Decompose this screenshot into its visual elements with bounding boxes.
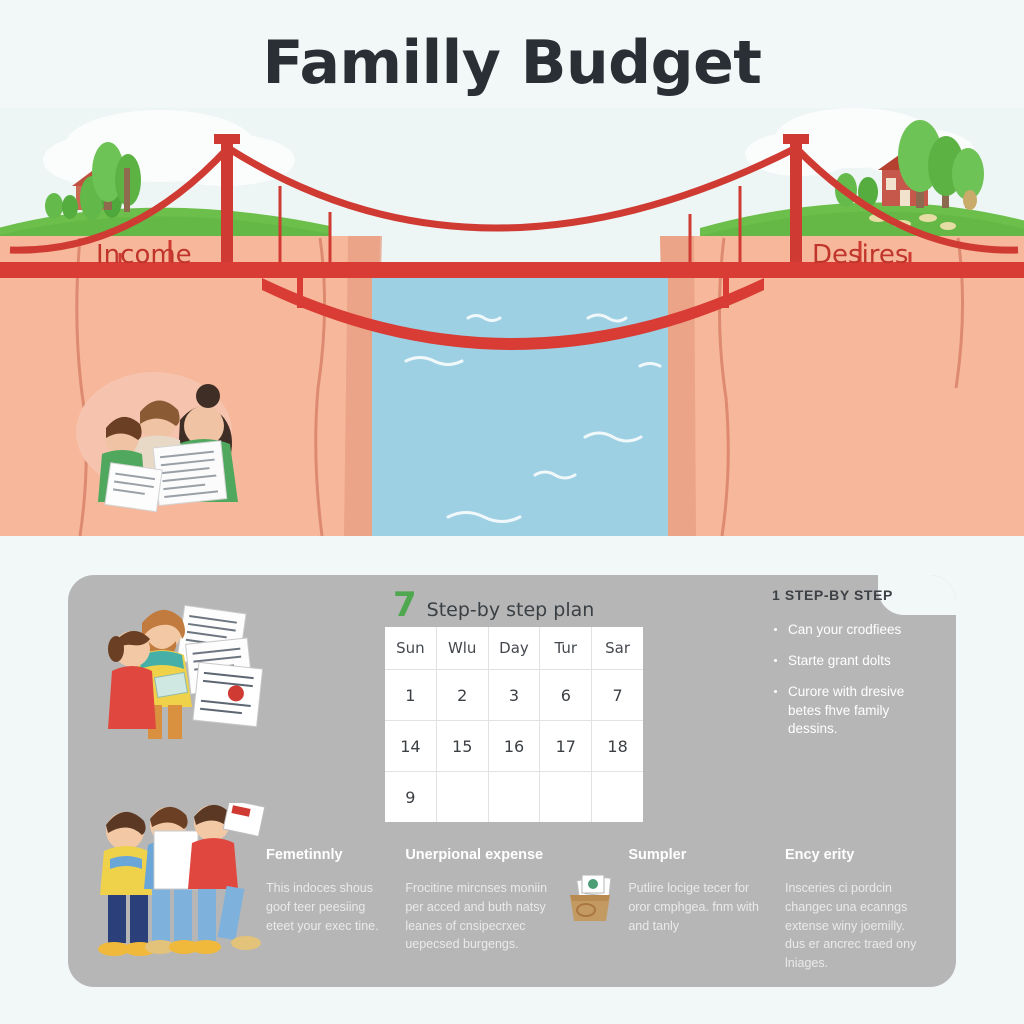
couple-with-papers-icon: [90, 593, 270, 743]
children-with-paper-icon: [80, 803, 275, 973]
feature-column: Ency erity Insceries ci pordcin changec …: [785, 847, 946, 973]
calendar-day-cell[interactable]: 15: [437, 721, 489, 772]
calendar-day-cell[interactable]: 6: [540, 670, 592, 721]
page-title: Familly Budget: [0, 28, 1024, 98]
calendar-day-cell[interactable]: 2: [437, 670, 489, 721]
feature-title: Femetinnly: [266, 847, 387, 863]
plan-heading: 7 Step-by step plan: [393, 588, 594, 622]
infographic-root: Familly Budget: [0, 0, 1024, 1024]
calendar-header-cell: Sar: [592, 627, 643, 670]
income-label: Income: [96, 240, 192, 270]
calendar-header-cell: Tur: [540, 627, 592, 670]
step-by-step-list: Can your crodfiees Starte grant dolts Cu…: [772, 621, 932, 738]
family-reviewing-documents-icon: [76, 372, 238, 512]
calendar-day-cell[interactable]: [437, 772, 489, 822]
calendar-week-row: 14 15 16 17 18: [385, 721, 643, 772]
cliff-right: [660, 236, 1024, 536]
calendar-day-cell[interactable]: [540, 772, 592, 822]
calendar-day-cell[interactable]: 17: [540, 721, 592, 772]
feature-body: Frocitine mircnses moniin per acced and …: [405, 879, 548, 954]
feature-title: Ency erity: [785, 847, 928, 863]
calendar-week-row: 1 2 3 6 7: [385, 670, 643, 721]
step-item: Curore with dresive betes fhve family de…: [772, 683, 932, 738]
canyon-bridge-scene: Income Desires: [0, 108, 1024, 536]
feature-column: Femetinnly This indoces shous goof teer …: [266, 847, 405, 973]
calendar-header-row: Sun Wlu Day Tur Sar: [385, 627, 643, 670]
cash-box-icon: [564, 873, 620, 927]
calendar-header-cell: Wlu: [437, 627, 489, 670]
feature-body: This indoces shous goof teer peesiing et…: [266, 879, 387, 935]
step-by-step-title: 1 STEP-BY STEP: [772, 587, 932, 603]
calendar-week-row: 9: [385, 772, 643, 822]
plan-number: 7: [393, 588, 417, 622]
calendar-day-cell[interactable]: [592, 772, 643, 822]
feature-column: Unerpional expense Frocitine mircnses mo…: [405, 847, 566, 973]
feature-title: Unerpional expense: [405, 847, 548, 863]
calendar-day-cell[interactable]: [489, 772, 541, 822]
calendar-day-cell[interactable]: 9: [385, 772, 437, 822]
feature-body: Insceries ci pordcin changec una ecanngs…: [785, 879, 928, 973]
bottom-panel: 7 Step-by step plan Sun Wlu Day Tur Sar …: [68, 575, 956, 987]
calendar-day-cell[interactable]: 3: [489, 670, 541, 721]
calendar-day-cell[interactable]: 1: [385, 670, 437, 721]
feature-column: Sumpler Putlire locige tecer for oror cm…: [566, 847, 785, 973]
plan-label: Step-by step plan: [427, 599, 595, 621]
feature-body: Putlire locige tecer for oror cmphgea. f…: [628, 879, 767, 935]
river-water-icon: [372, 268, 668, 536]
feature-columns: Femetinnly This indoces shous goof teer …: [266, 847, 946, 973]
calendar-day-cell[interactable]: 16: [489, 721, 541, 772]
step-item: Starte grant dolts: [772, 652, 932, 670]
calendar-day-cell[interactable]: 18: [592, 721, 643, 772]
calendar-header-cell: Day: [489, 627, 541, 670]
step-item: Can your crodfiees: [772, 621, 932, 639]
desires-label: Desires: [812, 240, 908, 270]
calendar-day-cell[interactable]: 7: [592, 670, 643, 721]
scene-svg: Income Desires: [0, 108, 1024, 536]
calendar-day-cell[interactable]: 14: [385, 721, 437, 772]
step-by-step-block: 1 STEP-BY STEP Can your crodfiees Starte…: [772, 587, 932, 751]
calendar-header-cell: Sun: [385, 627, 437, 670]
feature-title: Sumpler: [628, 847, 767, 863]
calendar-grid[interactable]: Sun Wlu Day Tur Sar 1 2 3 6 7 14 15 16 1…: [385, 627, 643, 822]
